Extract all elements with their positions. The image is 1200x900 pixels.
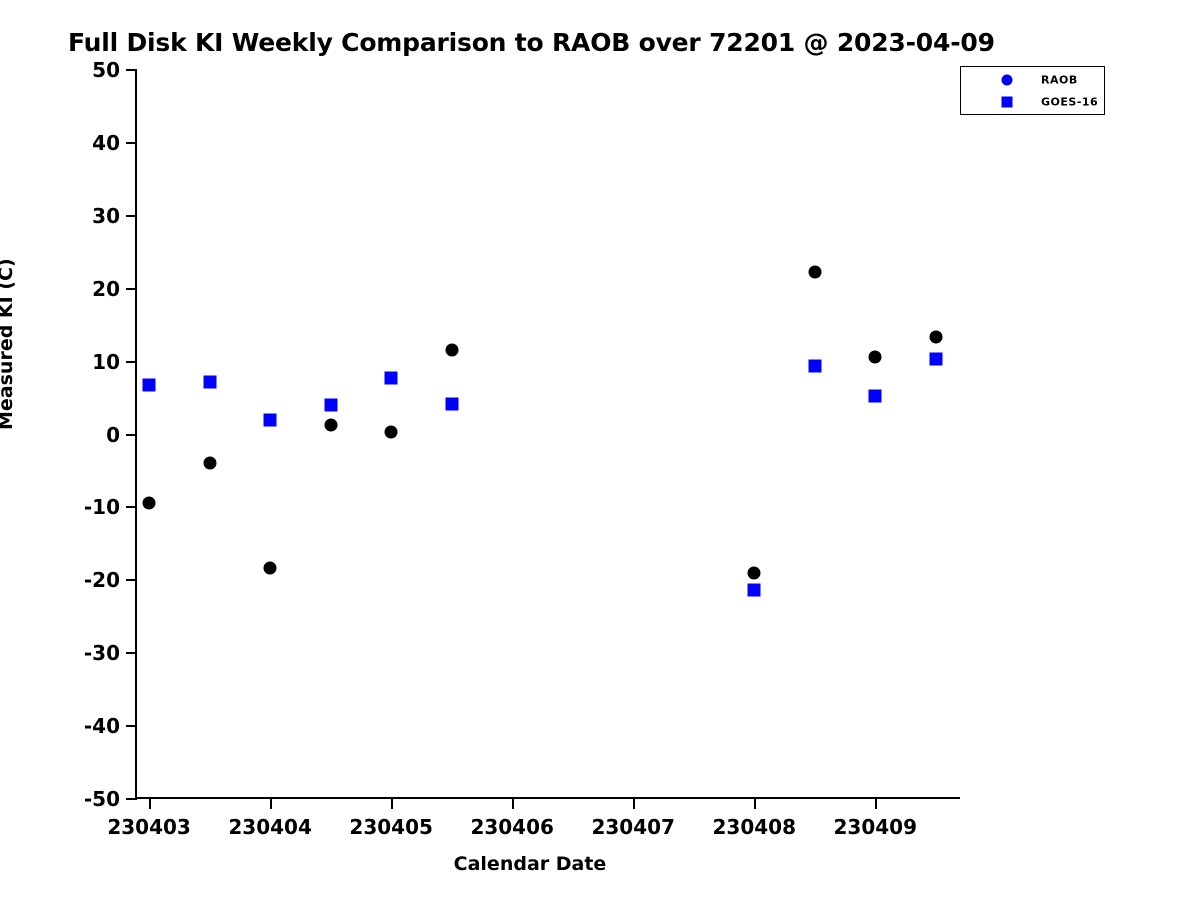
y-axis-tick: -10 — [126, 506, 137, 508]
data-point-goes-16 — [203, 376, 216, 389]
y-axis-tick: 0 — [126, 434, 137, 436]
y-axis-tick-label: -20 — [84, 568, 120, 592]
data-point-raob — [808, 266, 821, 279]
y-axis-tick: 20 — [126, 288, 137, 290]
data-point-goes-16 — [929, 353, 942, 366]
data-point-raob — [324, 419, 337, 432]
x-axis-tick — [512, 798, 514, 809]
y-axis-tick-label: -40 — [84, 714, 120, 738]
y-axis-tick-label: 20 — [92, 277, 120, 301]
chart-legend: RAOBGOES-16 — [960, 66, 1105, 115]
x-axis-tick — [633, 798, 635, 809]
data-point-goes-16 — [748, 584, 761, 597]
y-axis-tick: 10 — [126, 361, 137, 363]
x-axis-tick-label: 230406 — [470, 815, 554, 839]
y-axis-tick: 30 — [126, 215, 137, 217]
data-point-goes-16 — [385, 372, 398, 385]
y-axis-tick-label: 50 — [92, 58, 120, 82]
x-axis-tick-label: 230408 — [713, 815, 797, 839]
y-axis-tick-label: -10 — [84, 495, 120, 519]
data-point-raob — [445, 344, 458, 357]
data-point-goes-16 — [324, 399, 337, 412]
legend-entry-goes-16[interactable]: GOES-16 — [961, 91, 1104, 113]
y-axis-tick-label: -30 — [84, 641, 120, 665]
data-point-goes-16 — [143, 378, 156, 391]
x-axis-tick — [391, 798, 393, 809]
y-axis-tick: -50 — [126, 798, 137, 800]
data-point-raob — [748, 567, 761, 580]
x-axis-tick — [270, 798, 272, 809]
y-axis-tick-label: -50 — [84, 787, 120, 811]
plot-area: 50403020100-10-20-30-40-50 2304032304042… — [137, 69, 960, 798]
data-point-raob — [929, 331, 942, 344]
y-axis-tick-label: 40 — [92, 131, 120, 155]
data-point-raob — [143, 496, 156, 509]
legend-label: GOES-16 — [1041, 96, 1098, 109]
y-axis-tick: 40 — [126, 142, 137, 144]
data-point-raob — [869, 350, 882, 363]
y-axis-tick: -40 — [126, 725, 137, 727]
y-axis-tick: -30 — [126, 652, 137, 654]
legend-marker-circle-icon — [1002, 75, 1013, 86]
data-point-goes-16 — [264, 414, 277, 427]
x-axis-tick-label: 230404 — [228, 815, 312, 839]
chart-title: Full Disk KI Weekly Comparison to RAOB o… — [68, 28, 995, 57]
legend-marker-square-icon — [1002, 97, 1013, 108]
y-axis-tick: 50 — [126, 69, 137, 71]
x-axis-tick — [149, 798, 151, 809]
data-point-raob — [264, 562, 277, 575]
x-axis-tick-label: 230407 — [591, 815, 675, 839]
data-point-raob — [203, 457, 216, 470]
x-axis-tick-label: 230405 — [349, 815, 433, 839]
data-point-goes-16 — [869, 390, 882, 403]
y-axis-label: Measured KI (C) — [0, 258, 17, 430]
x-axis-label: Calendar Date — [0, 853, 1060, 875]
data-point-goes-16 — [808, 359, 821, 372]
data-point-raob — [385, 426, 398, 439]
y-axis-tick-label: 10 — [92, 350, 120, 374]
x-axis-tick — [754, 798, 756, 809]
y-axis-tick-label: 30 — [92, 204, 120, 228]
chart-page: Full Disk KI Weekly Comparison to RAOB o… — [0, 0, 1200, 900]
legend-label: RAOB — [1041, 74, 1078, 87]
y-axis-tick: -20 — [126, 579, 137, 581]
x-axis-tick — [875, 798, 877, 809]
legend-entry-raob[interactable]: RAOB — [961, 69, 1104, 91]
x-axis-tick-label: 230403 — [107, 815, 191, 839]
x-axis-tick-label: 230409 — [834, 815, 918, 839]
data-point-goes-16 — [445, 397, 458, 410]
y-axis-tick-label: 0 — [106, 423, 120, 447]
